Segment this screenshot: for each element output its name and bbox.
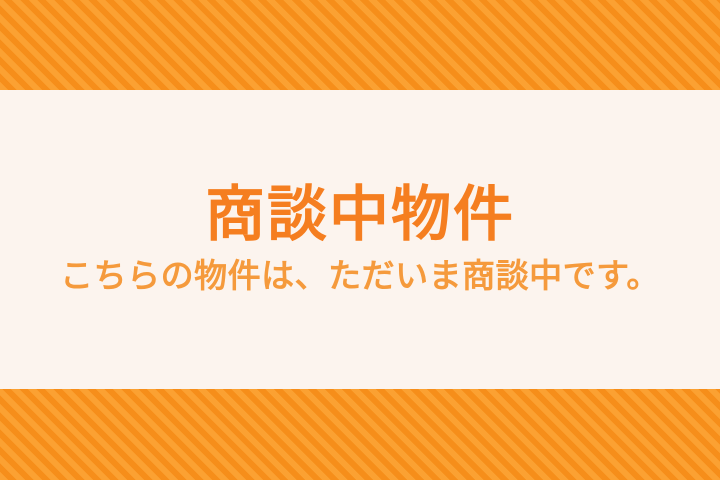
page-title: 商談中物件 xyxy=(205,182,515,249)
message-panel: 商談中物件 こちらの物件は、ただいま商談中です。 xyxy=(0,90,720,389)
status-message: こちらの物件は、ただいま商談中です。 xyxy=(60,255,660,296)
top-stripe-band xyxy=(0,0,720,90)
status-banner: 商談中物件 こちらの物件は、ただいま商談中です。 xyxy=(0,0,720,480)
bottom-stripe-band xyxy=(0,389,720,480)
